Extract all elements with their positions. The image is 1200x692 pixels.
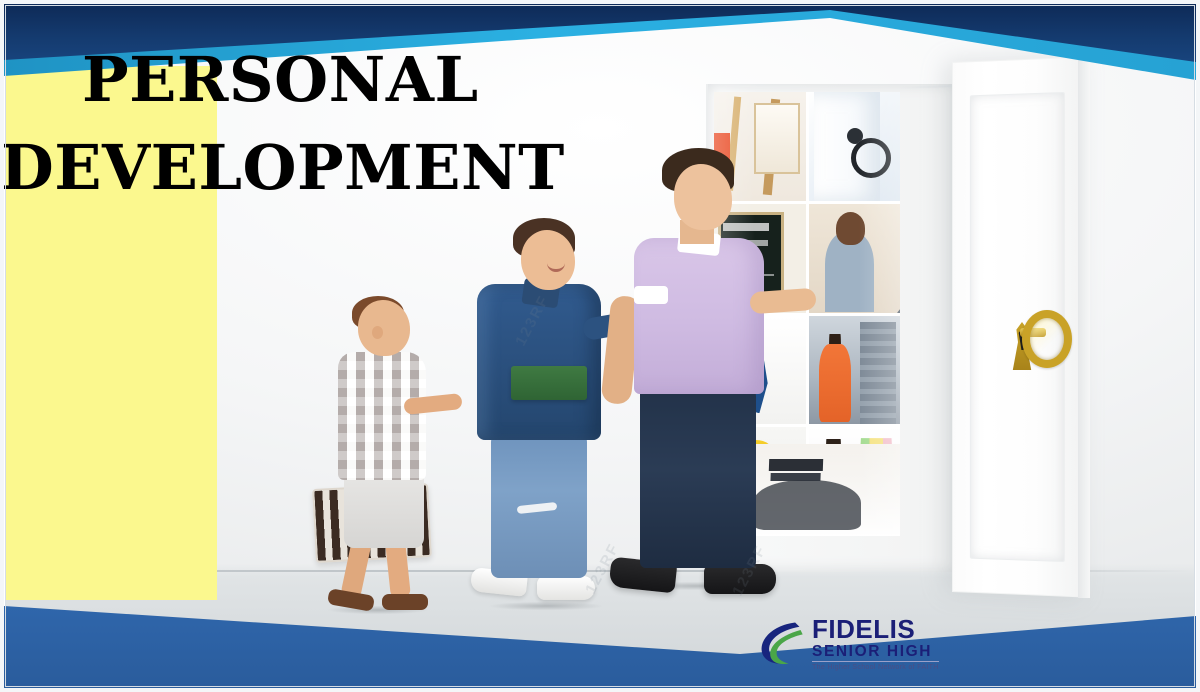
man-polo-sleeve-trim [634, 286, 668, 304]
golden-key-icon [1006, 308, 1072, 370]
boy-checkered-shirt [338, 352, 426, 480]
fidelis-logo-name: FIDELIS [812, 616, 939, 642]
teen-head [521, 230, 575, 290]
fidelis-logo-tagline: The Higher School Network of FAITH [812, 661, 939, 670]
figure-young-boy-with-suitcase [300, 300, 460, 618]
fidelis-swoosh-icon [752, 616, 808, 670]
boy-shorts [344, 472, 424, 548]
title-line-development: DEVELOPMENT [0, 136, 660, 200]
slide-title: PERSONAL DEVELOPMENT [0, 48, 660, 201]
teen-green-book [511, 366, 587, 400]
man-polo-shirt [634, 238, 764, 394]
boy-sandal-back [327, 588, 375, 612]
man-arm-front [749, 288, 816, 315]
fidelis-logo-subtitle: SENIOR HIGH [812, 644, 939, 660]
man-boot-front [704, 564, 776, 594]
collage-tile-teacher-at-laptop [809, 204, 901, 313]
door-outer-edge [1078, 58, 1090, 598]
boy-sandal-front [382, 594, 428, 610]
presentation-slide: 123RF 123RF 123RF [0, 0, 1200, 692]
fidelis-logo: FIDELIS SENIOR HIGH The Higher School Ne… [752, 612, 948, 674]
collage-tile-woman-in-city [809, 316, 901, 425]
teen-shoe-front [537, 576, 595, 600]
boy-head [358, 300, 410, 356]
boy-ear [372, 326, 383, 339]
key-ring [1022, 310, 1072, 368]
title-line-personal: PERSONAL [0, 48, 660, 112]
figure-young-man-walking [600, 146, 810, 592]
collage-tile-doctor-stethoscope [809, 92, 901, 201]
fidelis-logo-text: FIDELIS SENIOR HIGH The Higher School Ne… [812, 616, 939, 671]
man-jeans [640, 386, 756, 568]
teen-denim-jacket [477, 284, 601, 440]
